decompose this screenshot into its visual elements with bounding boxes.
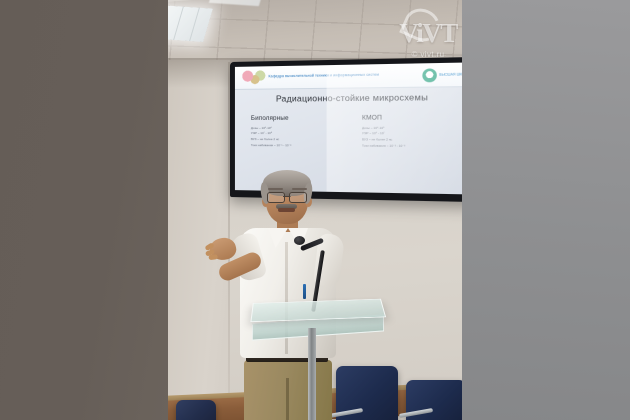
eyebrow-right <box>292 188 307 190</box>
chair-left <box>176 400 216 420</box>
slide-banner-text: Кафедра вычислительной техники и информа… <box>269 72 425 80</box>
slide-columns: Биполярные Дозы ~ 10⁵-10⁶ УЭР ~ 10⁷ - 10… <box>251 114 462 150</box>
photograph: Кафедра вычислительной техники и информа… <box>0 0 630 420</box>
column-line: Токи набивания ~ 10⁻¹ - 10⁻² <box>251 143 345 149</box>
letterbox-bar-left <box>0 0 168 420</box>
institute-emblem-icon <box>423 68 437 82</box>
eyebrow-left <box>268 188 283 190</box>
column-line: Токи набивания ~ 10⁻² - 10⁻³ <box>362 144 462 151</box>
slide-column-cmos: КМОП Дозы ~ 10⁴-10⁵ УЭР ~ 10⁶ - 10⁷ ВУЗ … <box>362 114 462 150</box>
trouser-seam <box>286 378 289 420</box>
microphone-head-icon <box>294 236 305 245</box>
chair-front-right <box>336 366 398 420</box>
speaker <box>220 172 345 420</box>
lectern-post <box>308 328 316 420</box>
letterbox-bar-right <box>462 0 630 420</box>
slide-column-bipolar: Биполярные Дозы ~ 10⁵-10⁶ УЭР ~ 10⁷ - 10… <box>251 114 345 149</box>
department-logo-icon <box>240 69 266 86</box>
pocket-pen-icon <box>303 284 306 299</box>
conference-room-scene: Кафедра вычислительной техники и информа… <box>168 0 462 420</box>
slide-banner: Кафедра вычислительной техники и информа… <box>235 62 462 90</box>
slide-title: Радиационно-стойкие микросхемы <box>235 91 462 104</box>
institute-badge: ВЫСШАЯ ШКОЛА <box>423 67 462 82</box>
column-heading: Биполярные <box>251 114 345 121</box>
institute-badge-text: ВЫСШАЯ ШКОЛА <box>439 72 462 77</box>
column-heading: КМОП <box>362 114 462 122</box>
glasses-icon <box>267 192 307 201</box>
chair-back-right <box>406 380 462 420</box>
mouth <box>278 208 295 212</box>
